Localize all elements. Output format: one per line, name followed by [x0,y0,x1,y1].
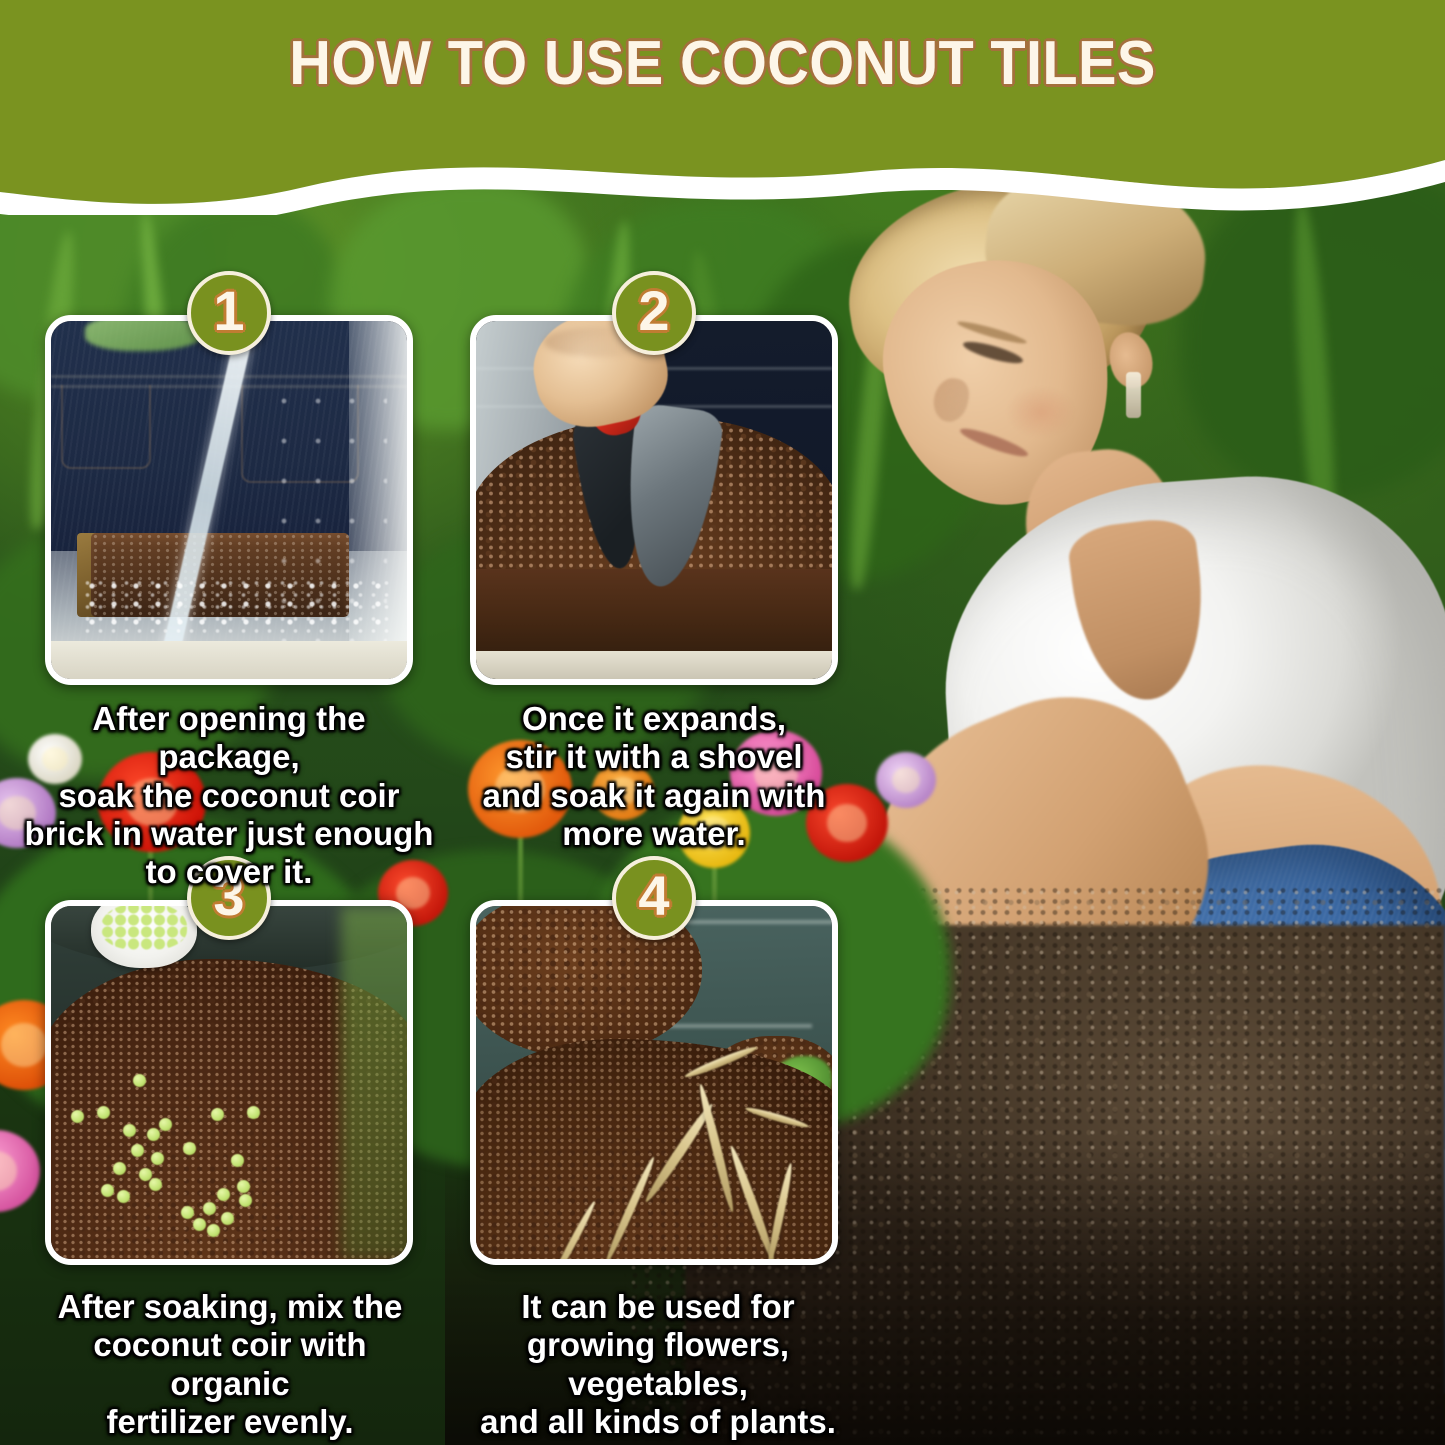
pellet [151,1152,164,1165]
step-3-card[interactable] [45,900,413,1265]
step-2[interactable]: 2 [470,315,838,685]
pellet [159,1118,172,1131]
pellet [71,1110,84,1123]
step-1-card[interactable] [45,315,413,685]
step-2-card[interactable] [470,315,838,685]
pellet [101,1184,114,1197]
step-1-image [51,321,407,679]
pellet [147,1128,160,1141]
pellet [239,1194,252,1207]
pellet [193,1218,206,1231]
pellet [113,1162,126,1175]
step-1-caption: After opening the package, soak the coco… [20,700,438,891]
header-banner: HOW TO USE COCONUT TILES [0,0,1445,215]
pellet [237,1180,250,1193]
step-3-image [51,906,407,1259]
pellet [207,1224,220,1237]
step-2-caption: Once it expands, stir it with a shovel a… [452,700,856,853]
page-title: HOW TO USE COCONUT TILES [51,28,1395,99]
fertilizer-pellets [51,906,407,1259]
steps-container: 1 After opening the package, soak the co… [0,0,900,1445]
step-1[interactable]: 1 [45,315,413,685]
coconut-tiles-infographic: HOW TO USE COCONUT TILES [0,0,1445,1445]
step-4-badge: 4 [612,856,696,940]
pellet [183,1142,196,1155]
tub-ledge [51,641,407,679]
step-4-number: 4 [638,868,669,924]
step-4-image [476,906,832,1259]
cheek [1006,386,1076,438]
step-4-caption: It can be used for growing flowers, vege… [448,1288,868,1441]
step-3[interactable]: 3 [45,900,413,1265]
pellet [203,1202,216,1215]
step-4[interactable]: 4 [470,900,838,1265]
pellet [131,1144,144,1157]
step-2-number: 2 [638,283,669,339]
pellet [181,1206,194,1219]
step-1-badge: 1 [187,271,271,355]
pellet [231,1154,244,1167]
step-3-caption: After soaking, mix the coconut coir with… [30,1288,430,1441]
water-droplets [267,381,387,679]
step-2-image [476,321,832,679]
pellet [97,1106,110,1119]
bin-ledge [476,651,832,679]
denim-pocket [61,385,151,469]
step-1-number: 1 [213,283,244,339]
earring [1126,372,1141,418]
pellet [247,1106,260,1119]
step-4-card[interactable] [470,900,838,1265]
pellet [117,1190,130,1203]
pellet [133,1074,146,1087]
step-2-badge: 2 [612,271,696,355]
pellet [221,1212,234,1225]
pellet [217,1188,230,1201]
pellet [211,1108,224,1121]
pellet [149,1178,162,1191]
pellet [123,1124,136,1137]
